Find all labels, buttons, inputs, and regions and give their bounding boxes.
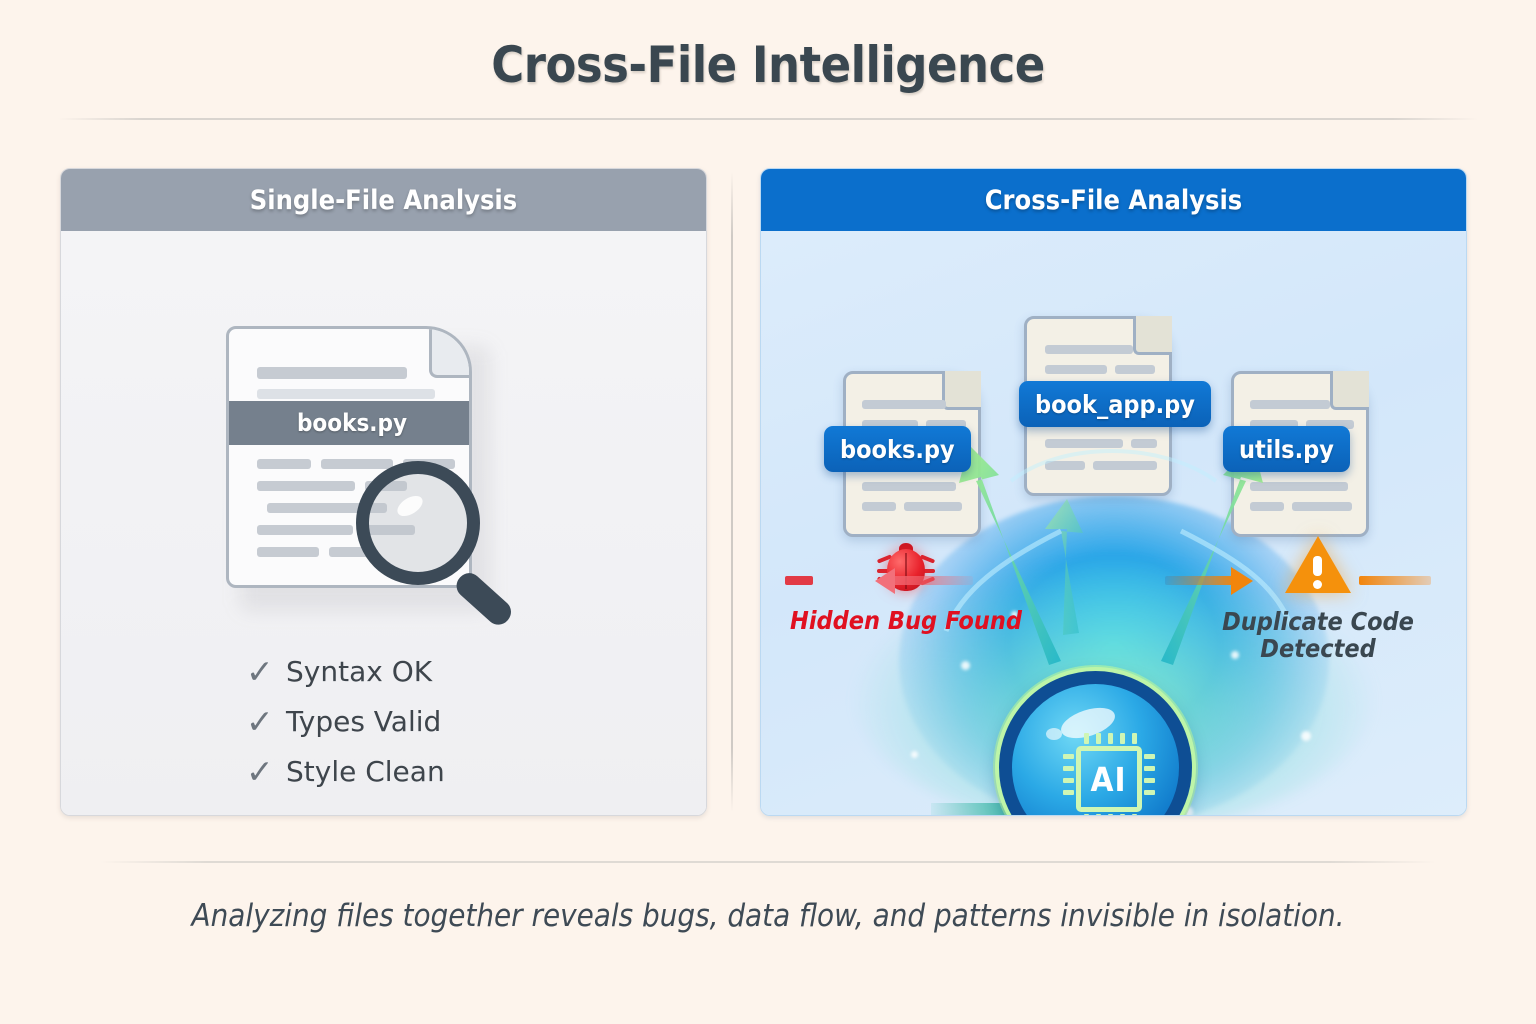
chip-pin [1096,733,1101,744]
code-line [257,459,311,469]
finding-duplicate-code: Duplicate Code Detected [1193,536,1443,662]
document-fold-corner [429,326,472,378]
single-file-checklist: ✓ Syntax OK ✓ Types Valid ✓ Style Clean [246,646,445,796]
page-title: Cross-File Intelligence [0,36,1536,94]
check-icon: ✓ [246,705,286,738]
chip-pin [1084,814,1089,816]
panel-divider [731,172,733,812]
ai-chip-label: AI [1090,763,1126,796]
code-line [257,525,353,535]
code-line [257,389,435,399]
chip-pin [1096,814,1101,816]
duplicate-arrow-head [1231,567,1253,595]
finding-label: Hidden Bug Found [781,607,1031,634]
bug-arrow-stem [891,576,973,585]
warning-exclamation-bar [1313,556,1322,576]
lens-highlight [1046,728,1062,740]
chip-pin [1063,766,1074,771]
check-icon: ✓ [246,755,286,788]
chip-pin [1144,778,1155,783]
cross-file-panel-title: Cross-File Analysis [985,185,1243,216]
magnifier-handle [452,568,516,629]
chip-pin [1063,754,1074,759]
duplicate-arrow-stem [1165,576,1237,585]
file-label-text: books.py [840,435,955,464]
checklist-item: ✓ Syntax OK [246,646,445,696]
chip-pin [1144,790,1155,795]
cross-file-panel-header: Cross-File Analysis [761,169,1466,231]
check-icon: ✓ [246,655,286,688]
magnifying-glass-icon [356,461,516,621]
duplicate-tick [1359,576,1431,585]
warning-exclamation-dot [1313,580,1322,589]
checklist-item: ✓ Style Clean [246,746,445,796]
chip-pin [1120,814,1125,816]
ai-chip-core: AI [1076,746,1142,812]
chip-pin [1144,754,1155,759]
file-label-book-app: book_app.py [1019,381,1211,427]
magnifier-highlight [394,492,426,520]
warning-triangle-icon [1285,536,1351,594]
checklist-item-label: Style Clean [286,755,445,788]
single-file-analysis-panel: Single-File Analysis books.py [60,168,707,816]
chip-pin [1108,814,1113,816]
ai-chip-icon: AI [1062,732,1156,816]
code-line [257,367,407,379]
bug-tick [785,576,813,585]
ai-magnifier-icon: AI [999,671,1229,816]
file-label-utils: utils.py [1223,426,1350,472]
chip-pin [1132,733,1137,744]
footer-divider [100,861,1436,863]
checklist-item-label: Types Valid [286,705,441,738]
chip-pin [1132,814,1137,816]
file-label-text: book_app.py [1035,390,1195,419]
chip-pin [1084,733,1089,744]
footer-caption: Analyzing files together reveals bugs, d… [0,898,1536,934]
chip-pin [1144,766,1155,771]
single-file-panel-body: books.py [61,231,706,815]
finding-label-line2: Detected [1193,635,1443,662]
document-filename: books.py [297,409,407,437]
file-label-books: books.py [824,426,971,472]
document-filename-band: books.py [227,401,472,445]
cross-file-analysis-panel: Cross-File Analysis [760,168,1467,816]
cross-file-panel-body: books.py book_app.py utils.py [761,231,1466,815]
finding-label-line1: Duplicate Code [1193,608,1443,635]
single-file-document-illustration: books.py [226,326,526,616]
file-label-text: utils.py [1239,435,1334,464]
checklist-item-label: Syntax OK [286,655,432,688]
magnifier-lens [356,461,480,585]
poster-root: Cross-File Intelligence Single-File Anal… [0,0,1536,1024]
checklist-item: ✓ Types Valid [246,696,445,746]
chip-pin [1063,778,1074,783]
title-divider [58,118,1478,120]
chip-pin [1120,733,1125,744]
single-file-panel-header: Single-File Analysis [61,169,706,231]
bug-arrow-head [875,568,895,594]
finding-hidden-bug: Hidden Bug Found [781,541,1031,634]
chip-pin [1108,733,1113,744]
chip-pin [1063,790,1074,795]
single-file-panel-title: Single-File Analysis [250,185,517,216]
code-line [257,547,319,557]
code-line [257,481,355,491]
